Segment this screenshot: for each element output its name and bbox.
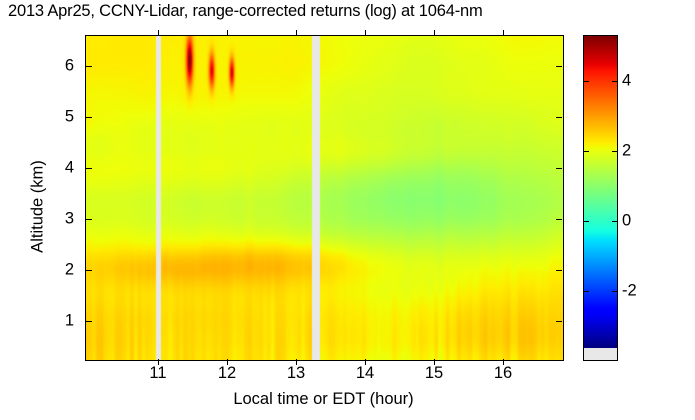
x-axis-tick-label: 11 (149, 364, 166, 383)
x-axis-tick-mark-top (296, 30, 297, 36)
x-axis-tick-mark-top (365, 30, 366, 36)
colorbar-tick-mark (584, 151, 589, 152)
colorbar-under-range-swatch (584, 348, 617, 360)
x-axis-tick-mark-top (434, 30, 435, 36)
colorbar-tick-mark (584, 221, 589, 222)
x-axis-label: Local time or EDT (hour) (85, 390, 562, 409)
colorbar-tick-mark-right (612, 221, 617, 222)
colorbar-tick-mark-right (612, 151, 617, 152)
figure-title: 2013 Apr25, CCNY-Lidar, range-corrected … (8, 2, 483, 21)
heatmap-canvas (86, 36, 563, 360)
y-axis-tick-mark-right (556, 321, 562, 322)
y-axis-tick-mark (86, 219, 92, 220)
y-axis-tick-mark (86, 321, 92, 322)
lidar-figure: 2013 Apr25, CCNY-Lidar, range-corrected … (0, 0, 695, 420)
colorbar-tick-label: 0 (622, 212, 631, 231)
y-axis-tick-mark-right (556, 117, 562, 118)
y-axis-tick-label: 1 (0, 312, 74, 331)
colorbar-tick-label: 4 (622, 72, 631, 91)
y-axis-tick-mark-right (556, 219, 562, 220)
y-axis-tick-label: 6 (0, 57, 74, 76)
colorbar-tick-mark-right (612, 291, 617, 292)
colorbar-tick-label: 2 (622, 142, 631, 161)
x-axis-tick-label: 13 (287, 364, 305, 383)
y-axis-tick-mark-right (556, 168, 562, 169)
plot-area[interactable] (85, 35, 564, 361)
colorbar-gradient (584, 36, 617, 348)
x-axis-tick-label: 15 (425, 364, 443, 383)
y-axis-tick-label: 2 (0, 261, 74, 280)
y-axis-tick-label: 4 (0, 159, 74, 178)
x-axis-tick-label: 16 (494, 364, 512, 383)
x-axis-tick-label: 14 (356, 364, 374, 383)
colorbar[interactable] (583, 35, 618, 361)
y-axis-tick-mark (86, 66, 92, 67)
y-axis-tick-label: 5 (0, 108, 74, 127)
y-axis-tick-mark (86, 168, 92, 169)
y-axis-tick-mark (86, 270, 92, 271)
x-axis-tick-mark-top (158, 30, 159, 36)
colorbar-tick-label: -2 (622, 282, 637, 301)
y-axis-tick-mark-right (556, 66, 562, 67)
y-axis-tick-mark-right (556, 270, 562, 271)
y-axis-tick-label: 3 (0, 210, 74, 229)
x-axis-tick-label: 12 (218, 364, 236, 383)
colorbar-tick-mark (584, 81, 589, 82)
colorbar-tick-mark (584, 291, 589, 292)
x-axis-tick-mark-top (227, 30, 228, 36)
colorbar-tick-mark-right (612, 81, 617, 82)
x-axis-tick-mark-top (503, 30, 504, 36)
y-axis-tick-mark (86, 117, 92, 118)
